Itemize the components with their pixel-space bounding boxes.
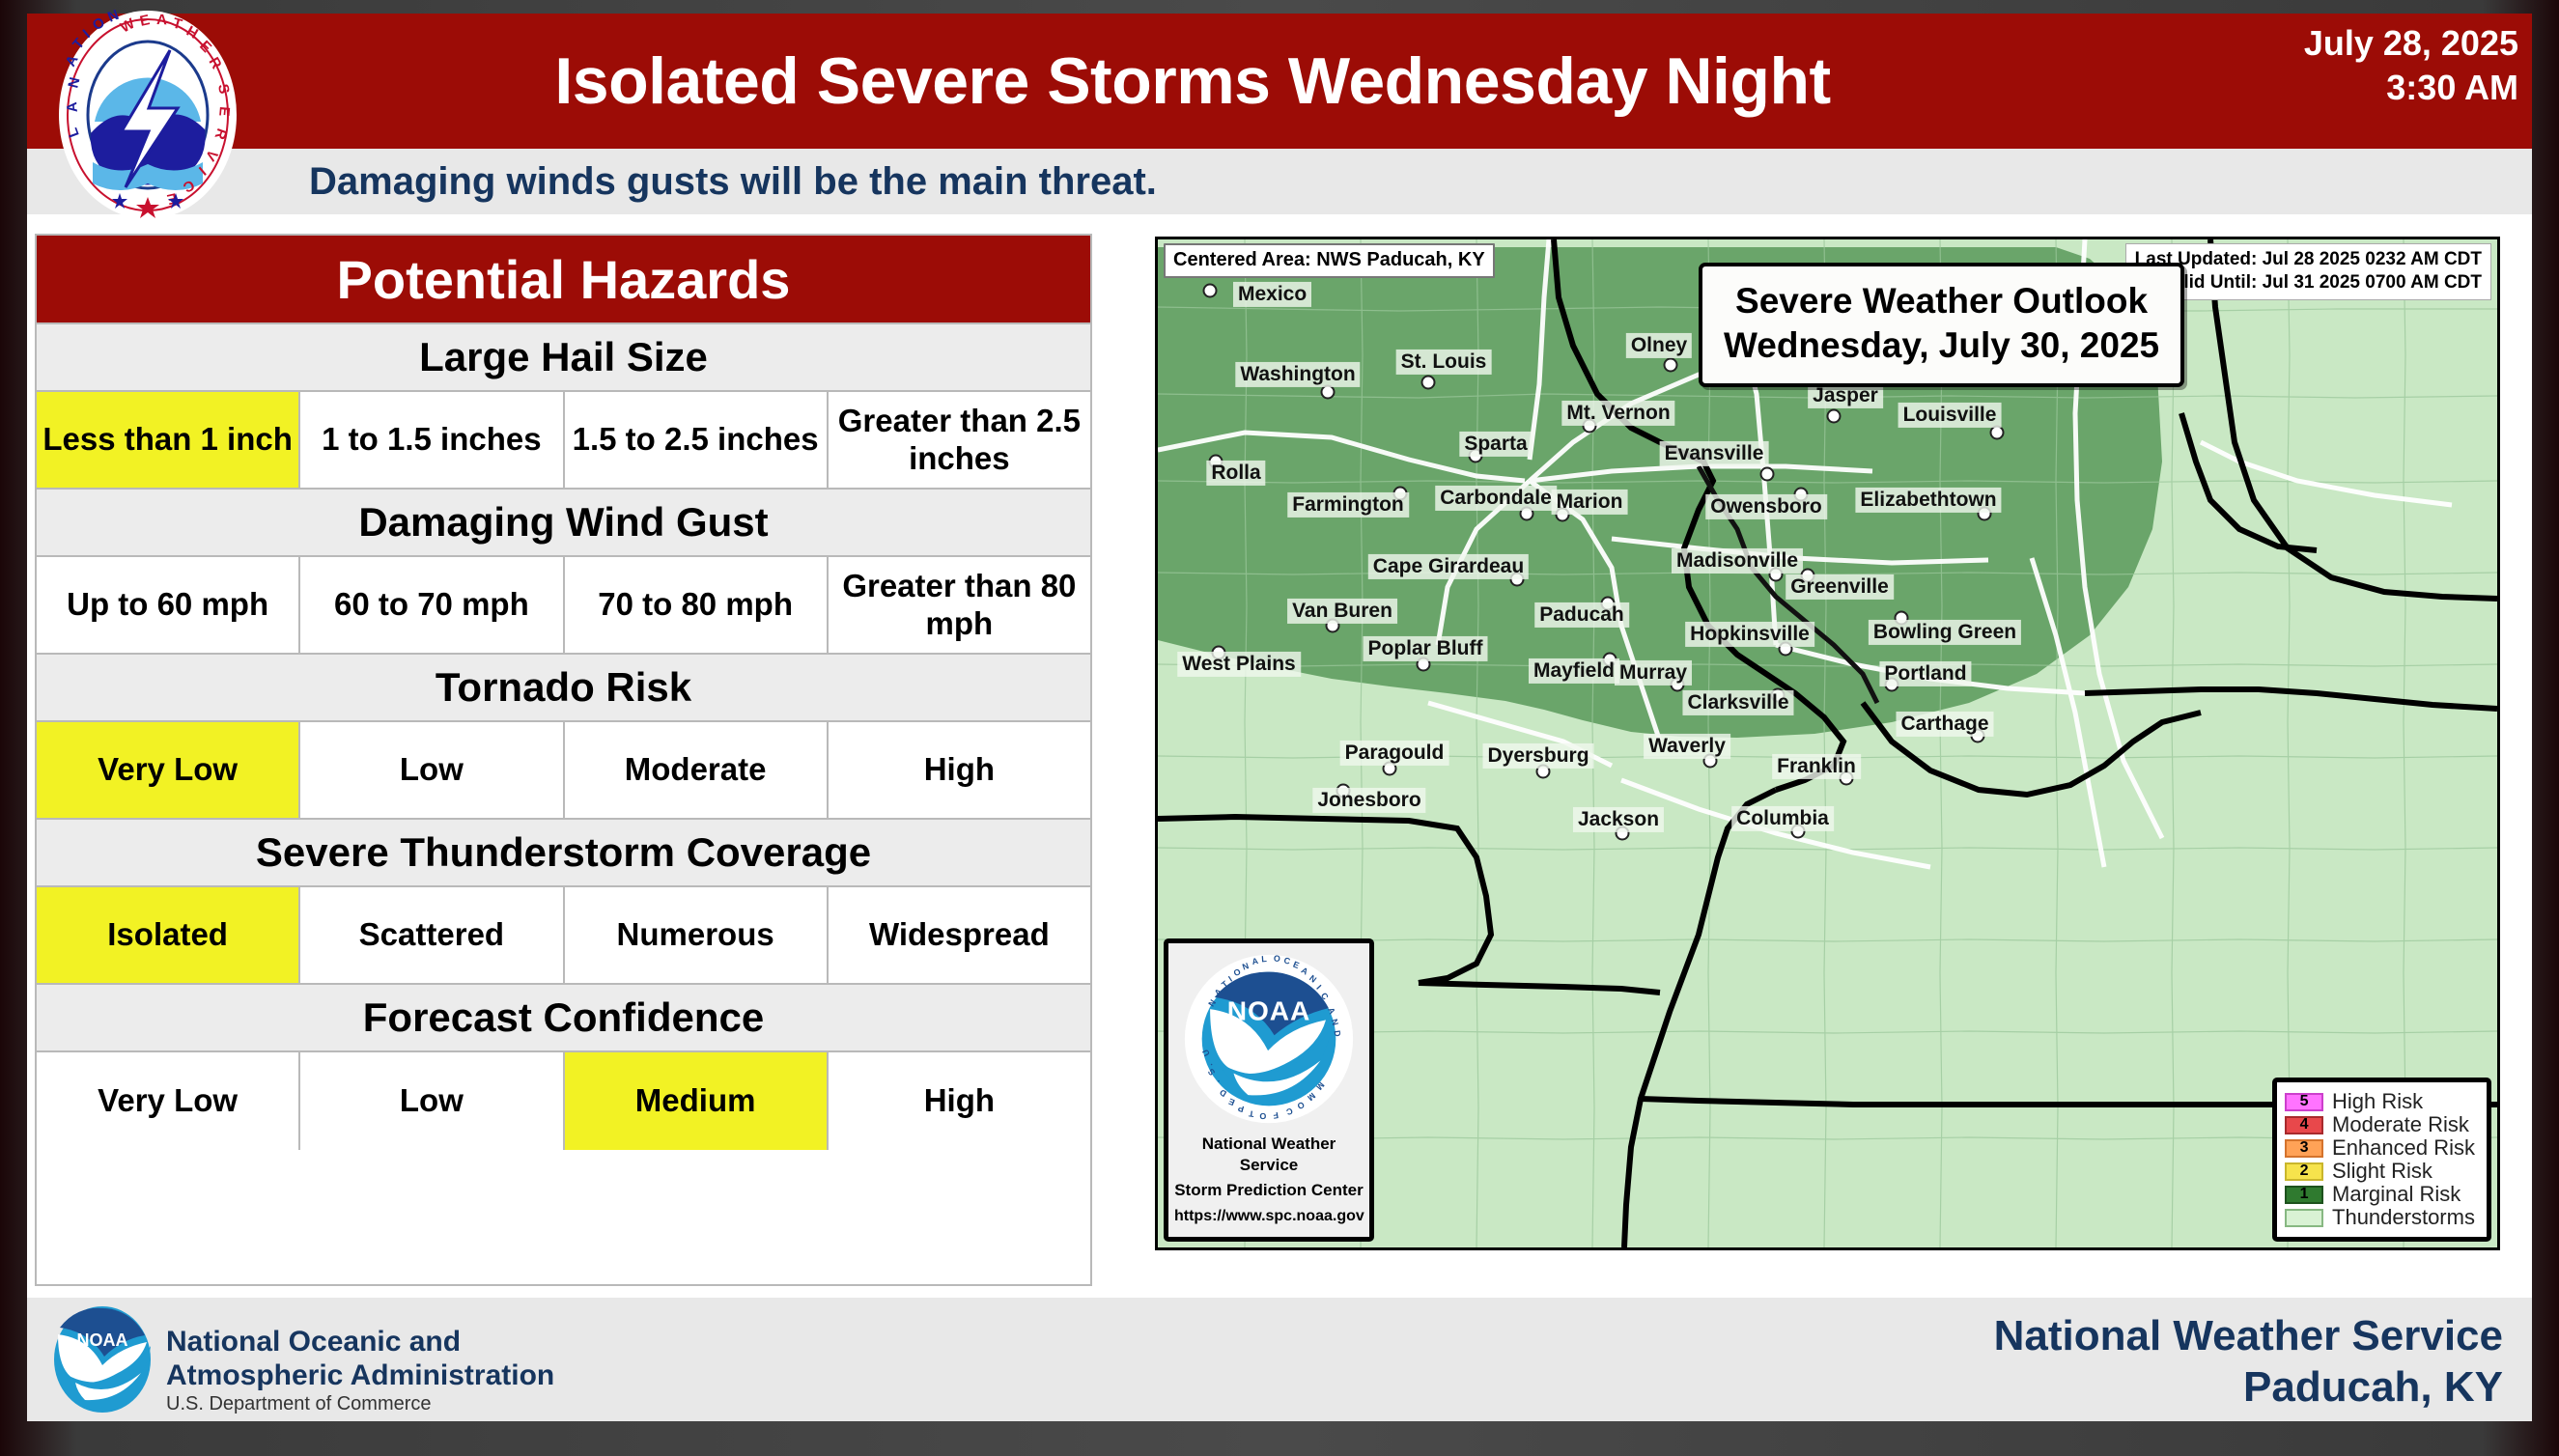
city-dot [1760, 467, 1775, 482]
legend-label: Thunderstorms [2332, 1205, 2475, 1230]
city-label: Mexico [1233, 282, 1311, 307]
city-label: Jackson [1573, 807, 1664, 832]
spc-url: https://www.spc.noaa.gov [1174, 1208, 1364, 1225]
legend-item: 4 Moderate Risk [2285, 1113, 2475, 1136]
city-label: Rolla [1206, 461, 1265, 486]
city-label: Jonesboro [1312, 788, 1425, 813]
hazard-option-cell[interactable]: Scattered [300, 887, 564, 983]
city-label: Waverly [1644, 734, 1730, 759]
hazard-option-cell[interactable]: Numerous [565, 887, 829, 983]
centered-area-box: Centered Area: NWS Paducah, KY [1164, 243, 1495, 278]
svg-text:A: A [156, 12, 168, 28]
legend-swatch-3: 3 [2285, 1139, 2323, 1158]
outlook-line2: Wednesday, July 30, 2025 [1724, 323, 2159, 368]
legend-item: 5 High Risk [2285, 1090, 2475, 1113]
city-label: Washington [1235, 362, 1360, 387]
hazard-option-cell[interactable]: 70 to 80 mph [565, 557, 829, 653]
city-label: Mayfield [1529, 658, 1619, 684]
subtitle-text: Damaging winds gusts will be the main th… [309, 151, 1157, 212]
city-label: Carthage [1896, 712, 1993, 737]
svg-text:E: E [215, 106, 233, 117]
spc-line2: Storm Prediction Center [1174, 1180, 1364, 1201]
hazard-category-label: Forecast Confidence [37, 985, 1090, 1052]
city-label: Hopkinsville [1685, 622, 1814, 647]
city-dot [1827, 409, 1842, 424]
city-label: Greenville [1786, 574, 1894, 600]
spc-logo-box: NOAA N A T I O N A L O C E A N I C [1164, 938, 1374, 1242]
hazard-category-label: Severe Thunderstorm Coverage [37, 820, 1090, 887]
city-label: Carbondale [1435, 486, 1557, 511]
hazard-option-cell[interactable]: Very Low [37, 1052, 300, 1150]
legend-label: Enhanced Risk [2332, 1135, 2475, 1161]
hazard-option-row: Isolated Scattered Numerous Widespread [37, 887, 1090, 985]
last-updated-text: Last Updated: Jul 28 2025 0232 AM CDT [2135, 248, 2482, 271]
city-label: St. Louis [1396, 350, 1492, 375]
hazard-option-cell[interactable]: Medium [565, 1052, 829, 1150]
hazard-option-cell[interactable]: 1.5 to 2.5 inches [565, 392, 829, 488]
city-label: Olney [1626, 333, 1692, 358]
svg-text:NOAA: NOAA [1227, 995, 1310, 1025]
city-label: Dyersburg [1482, 743, 1593, 769]
legend-label: High Risk [2332, 1089, 2423, 1114]
outlook-title-box: Severe Weather Outlook Wednesday, July 3… [1699, 263, 2184, 387]
hazard-category-label: Damaging Wind Gust [37, 490, 1090, 557]
hazard-option-row: Very Low Low Medium High [37, 1052, 1090, 1150]
hazard-option-cell[interactable]: Less than 1 inch [37, 392, 300, 488]
hazard-category-label: Large Hail Size [37, 324, 1090, 392]
legend-swatch-5: 5 [2285, 1093, 2323, 1111]
city-label: Van Buren [1287, 599, 1397, 624]
page-title: Isolated Severe Storms Wednesday Night [290, 14, 2095, 149]
city-label: Paragould [1340, 741, 1449, 766]
hazard-option-cell[interactable]: Very Low [37, 722, 300, 818]
header-time: 3:30 AM [2113, 66, 2518, 110]
city-label: Mt. Vernon [1561, 401, 1674, 426]
hazard-option-row: Very Low Low Moderate High [37, 722, 1090, 820]
nws-line1: National Weather Service [1994, 1311, 2503, 1362]
hazards-title: Potential Hazards [37, 236, 1090, 324]
city-label: Poplar Bluff [1364, 636, 1488, 661]
legend-label: Slight Risk [2332, 1159, 2432, 1184]
city-label: Elizabethtown [1855, 488, 2001, 513]
hazard-category-label: Tornado Risk [37, 655, 1090, 722]
hazard-option-cell[interactable]: Low [300, 722, 564, 818]
city-dot [1421, 376, 1436, 390]
city-label: Franklin [1772, 754, 1861, 779]
risk-legend: 5 High Risk 4 Moderate Risk 3 Enhanced R… [2272, 1078, 2491, 1242]
noaa-logo-icon: NOAA [50, 1305, 155, 1414]
hazard-option-cell[interactable]: High [829, 722, 1090, 818]
header-datetime: July 28, 2025 3:30 AM [2113, 21, 2518, 110]
legend-swatch-2: 2 [2285, 1162, 2323, 1181]
city-label: Louisville [1898, 403, 2002, 428]
city-label: Cape Girardeau [1368, 554, 1529, 579]
legend-item: 3 Enhanced Risk [2285, 1136, 2475, 1160]
city-label: Farmington [1287, 492, 1409, 518]
hazard-option-cell[interactable]: Up to 60 mph [37, 557, 300, 653]
city-label: Owensboro [1705, 494, 1827, 519]
hazard-option-row: Less than 1 inch 1 to 1.5 inches 1.5 to … [37, 392, 1090, 490]
footer-doc-line: U.S. Department of Commerce [166, 1393, 432, 1415]
noaa-line1: National Oceanic and [166, 1325, 554, 1358]
spc-line1: National Weather Service [1174, 1134, 1364, 1176]
hazard-option-cell[interactable]: Isolated [37, 887, 300, 983]
city-label: Paducah [1534, 602, 1629, 628]
hazard-option-cell[interactable]: 1 to 1.5 inches [300, 392, 564, 488]
legend-swatch-1: 1 [2285, 1186, 2323, 1204]
city-label: Clarksville [1682, 690, 1793, 715]
hazard-option-cell[interactable]: Moderate [565, 722, 829, 818]
city-label: Columbia [1731, 806, 1834, 831]
hazard-option-cell[interactable]: Low [300, 1052, 564, 1150]
severe-weather-outlook-map[interactable]: Mexico Washington St. Louis Olney Vincen… [1155, 237, 2500, 1250]
hazard-option-cell[interactable]: High [829, 1052, 1090, 1150]
outlook-line1: Severe Weather Outlook [1724, 279, 2159, 323]
hazard-option-cell[interactable]: Widespread [829, 887, 1090, 983]
city-dot [1203, 284, 1218, 298]
valid-until-text: Valid Until: Jul 31 2025 0700 AM CDT [2135, 271, 2482, 294]
legend-swatch-thunderstorms [2285, 1209, 2323, 1227]
hazard-option-row: Up to 60 mph 60 to 70 mph 70 to 80 mph G… [37, 557, 1090, 655]
svg-text:NOAA: NOAA [77, 1330, 128, 1350]
legend-item: 2 Slight Risk [2285, 1160, 2475, 1183]
infographic-root: W E A T H E R S E R V I C E N A T I O [0, 0, 2559, 1456]
svg-text:O: O [1273, 953, 1280, 964]
city-label: Sparta [1459, 432, 1532, 457]
city-label: Murray [1615, 660, 1692, 686]
nws-line2: Paducah, KY [1994, 1362, 2503, 1414]
svg-text:A: A [64, 101, 81, 113]
footer-nws-office: National Weather Service Paducah, KY [1994, 1311, 2503, 1414]
city-label: Madisonville [1672, 548, 1803, 574]
svg-text:O: O [1259, 1111, 1266, 1121]
legend-item: Thunderstorms [2285, 1206, 2475, 1229]
legend-swatch-4: 4 [2285, 1116, 2323, 1134]
city-label: Evansville [1660, 441, 1769, 466]
legend-item: 1 Marginal Risk [2285, 1183, 2475, 1206]
hazard-option-cell[interactable]: Greater than 80 mph [829, 557, 1090, 653]
nws-logo-icon: W E A T H E R S E R V I C E N A T I O [56, 8, 239, 222]
legend-label: Moderate Risk [2332, 1112, 2469, 1137]
noaa-line2: Atmospheric Administration [166, 1358, 554, 1392]
city-dot [1664, 358, 1678, 373]
noaa-seal-icon: NOAA N A T I O N A L O C E A N I C [1183, 953, 1355, 1125]
city-label: Bowling Green [1869, 620, 2021, 645]
city-label: Portland [1879, 661, 1971, 686]
potential-hazards-table: Potential Hazards Large Hail Size Less t… [35, 234, 1092, 1286]
hazard-option-cell[interactable]: Greater than 2.5 inches [829, 392, 1090, 488]
header-date: July 28, 2025 [2113, 21, 2518, 66]
hazard-option-cell[interactable]: 60 to 70 mph [300, 557, 564, 653]
city-label: West Plains [1177, 652, 1301, 677]
legend-label: Marginal Risk [2332, 1182, 2461, 1207]
city-label: Jasper [1808, 383, 1883, 408]
footer-noaa-name: National Oceanic and Atmospheric Adminis… [166, 1325, 554, 1393]
city-label: Marion [1552, 490, 1628, 515]
